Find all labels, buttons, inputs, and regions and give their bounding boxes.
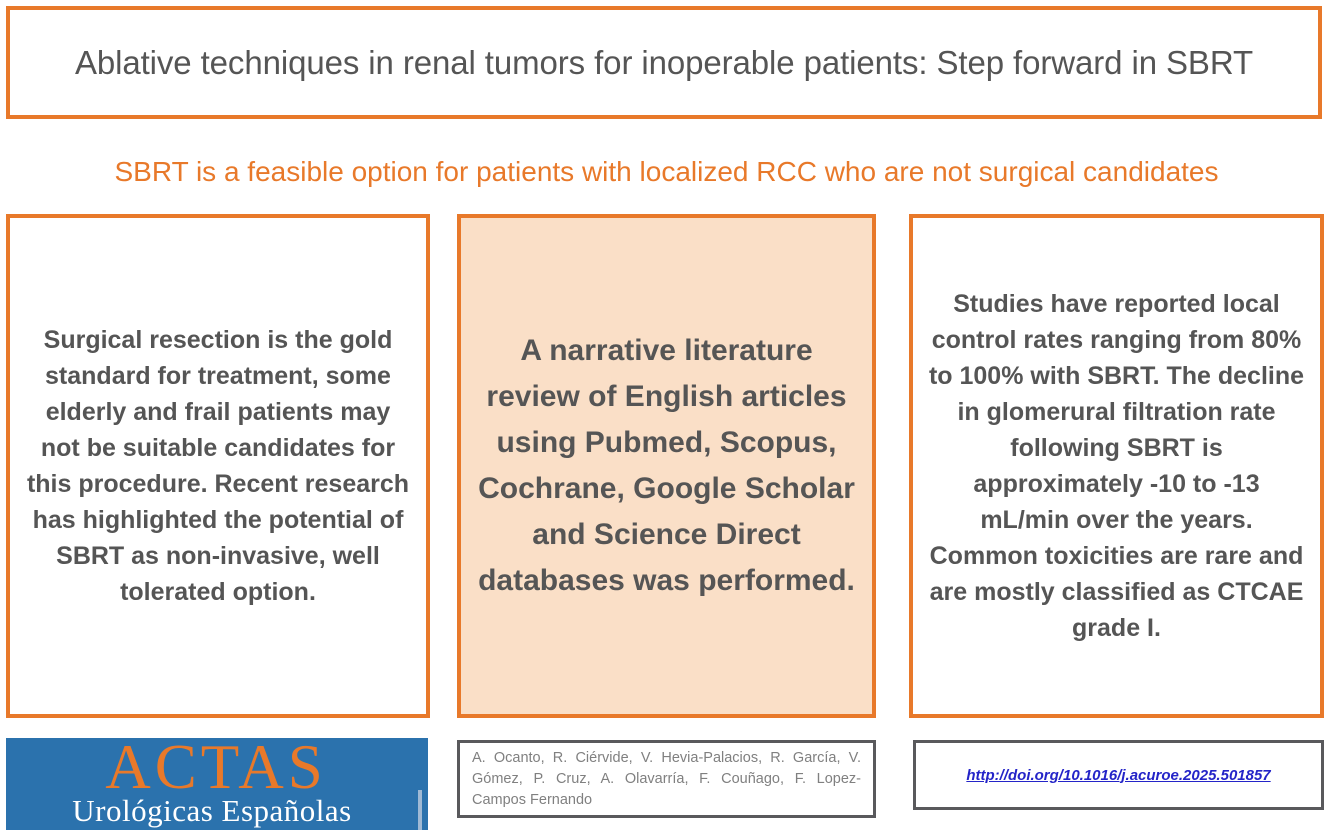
authors-box: A. Ocanto, R. Ciérvide, V. Hevia-Palacio… [457, 740, 876, 818]
panel-results-text: Studies have reported local control rate… [913, 286, 1320, 646]
doi-link[interactable]: http://doi.org/10.1016/j.acuroe.2025.501… [966, 767, 1270, 784]
journal-logo-title: ACTAS [24, 738, 408, 800]
panel-methods: A narrative literature review of English… [457, 214, 876, 718]
doi-box[interactable]: http://doi.org/10.1016/j.acuroe.2025.501… [913, 740, 1324, 810]
title-box: Ablative techniques in renal tumors for … [6, 6, 1322, 119]
footer-row: ACTAS Urológicas Españolas A. Ocanto, R.… [0, 734, 1333, 830]
panel-results: Studies have reported local control rate… [909, 214, 1324, 718]
panel-methods-text: A narrative literature review of English… [461, 328, 872, 604]
journal-logo-subtitle: Urológicas Españolas [16, 794, 408, 828]
graphical-abstract: Ablative techniques in renal tumors for … [0, 0, 1333, 830]
panel-row: Surgical resection is the gold standard … [0, 214, 1333, 718]
logo-accent-bar [418, 790, 422, 830]
key-message: SBRT is a feasible option for patients w… [0, 155, 1333, 189]
panel-background-text: Surgical resection is the gold standard … [10, 322, 426, 610]
author-list: A. Ocanto, R. Ciérvide, V. Hevia-Palacio… [460, 748, 873, 811]
panel-background: Surgical resection is the gold standard … [6, 214, 430, 718]
page-title: Ablative techniques in renal tumors for … [49, 43, 1279, 83]
journal-logo: ACTAS Urológicas Españolas [6, 738, 428, 830]
